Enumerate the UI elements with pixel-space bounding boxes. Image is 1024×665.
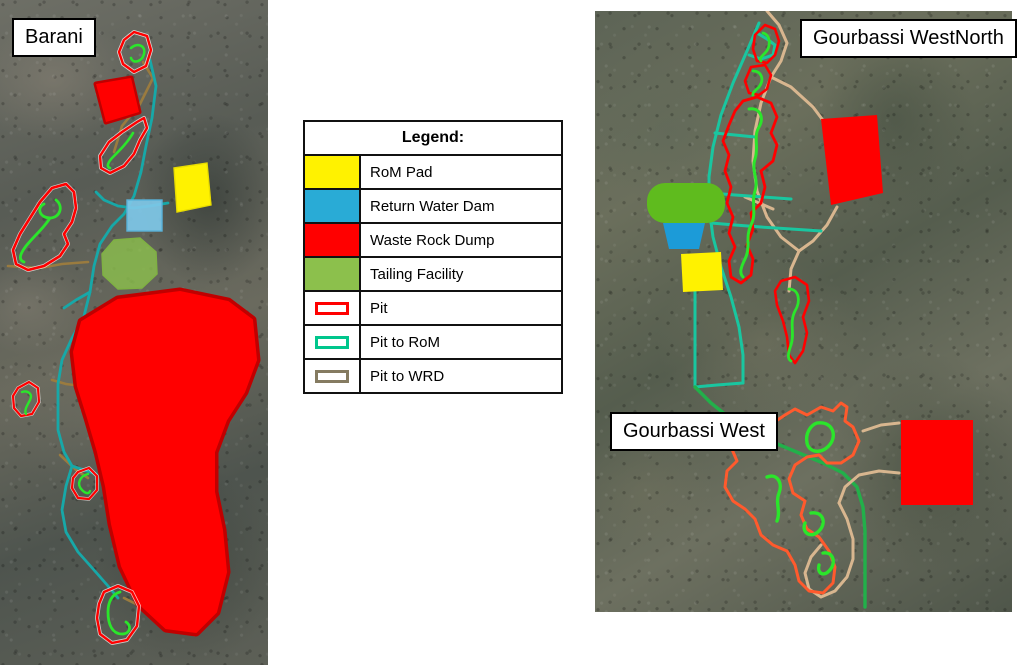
legend-row: Pit to RoM (305, 326, 561, 360)
legend-row: Tailing Facility (305, 258, 561, 292)
site-label-barani: Barani (12, 18, 96, 57)
legend-swatch-cell (305, 326, 361, 358)
legend-swatch-cell (305, 224, 361, 256)
legend-swatch-cell (305, 258, 361, 290)
legend-row: Pit to WRD (305, 360, 561, 392)
green-fill-swatch (305, 258, 359, 290)
brown-outline-swatch (315, 370, 349, 383)
map-barani[interactable] (0, 0, 268, 665)
gourbassi-return-water-dam[interactable] (663, 223, 705, 249)
barani-tailing-facility[interactable] (102, 238, 157, 289)
gourbassi-overlay (595, 11, 1012, 612)
legend-panel: Legend: RoM PadReturn Water DamWaste Roc… (303, 120, 563, 394)
legend-row: RoM Pad (305, 156, 561, 190)
legend-title: Legend: (305, 122, 561, 156)
map-gourbassi[interactable] (595, 11, 1012, 612)
gourbassi-wrd-south[interactable] (901, 420, 973, 505)
legend-swatch-cell (305, 156, 361, 188)
legend-item-label: Pit to RoM (361, 326, 561, 358)
legend-item-label: RoM Pad (361, 156, 561, 188)
red-fill-swatch (305, 224, 359, 256)
gourbassi-rom-pad[interactable] (681, 252, 723, 292)
legend-swatch-cell (305, 190, 361, 222)
legend-swatch-cell (305, 360, 361, 392)
legend-item-label: Return Water Dam (361, 190, 561, 222)
legend-swatch-cell (305, 292, 361, 324)
figure-canvas: Barani Gourbassi WestNorth Gourbassi Wes… (0, 0, 1024, 665)
yellow-fill-swatch (305, 156, 359, 188)
barani-waste-rock-dump-north[interactable] (96, 78, 139, 122)
legend-row: Pit (305, 292, 561, 326)
legend-item-label: Pit (361, 292, 561, 324)
legend-rows: RoM PadReturn Water DamWaste Rock DumpTa… (305, 156, 561, 392)
legend-item-label: Tailing Facility (361, 258, 561, 290)
teal-outline-swatch (315, 336, 349, 349)
barani-rom-pad[interactable] (174, 163, 211, 212)
legend-row: Return Water Dam (305, 190, 561, 224)
gourbassi-wrd-north[interactable] (821, 115, 883, 205)
gourbassi-tailing-facility[interactable] (647, 183, 725, 223)
legend-item-label: Pit to WRD (361, 360, 561, 392)
red-outline-swatch (315, 302, 349, 315)
cyan-fill-swatch (305, 190, 359, 222)
barani-waste-rock-dump-main[interactable] (74, 292, 256, 632)
site-label-gourbassi-west-north: Gourbassi WestNorth (800, 19, 1017, 58)
barani-overlay (0, 0, 268, 665)
barani-return-water-dam[interactable] (127, 200, 162, 231)
site-label-gourbassi-west: Gourbassi West (610, 412, 778, 451)
legend-item-label: Waste Rock Dump (361, 224, 561, 256)
legend-row: Waste Rock Dump (305, 224, 561, 258)
